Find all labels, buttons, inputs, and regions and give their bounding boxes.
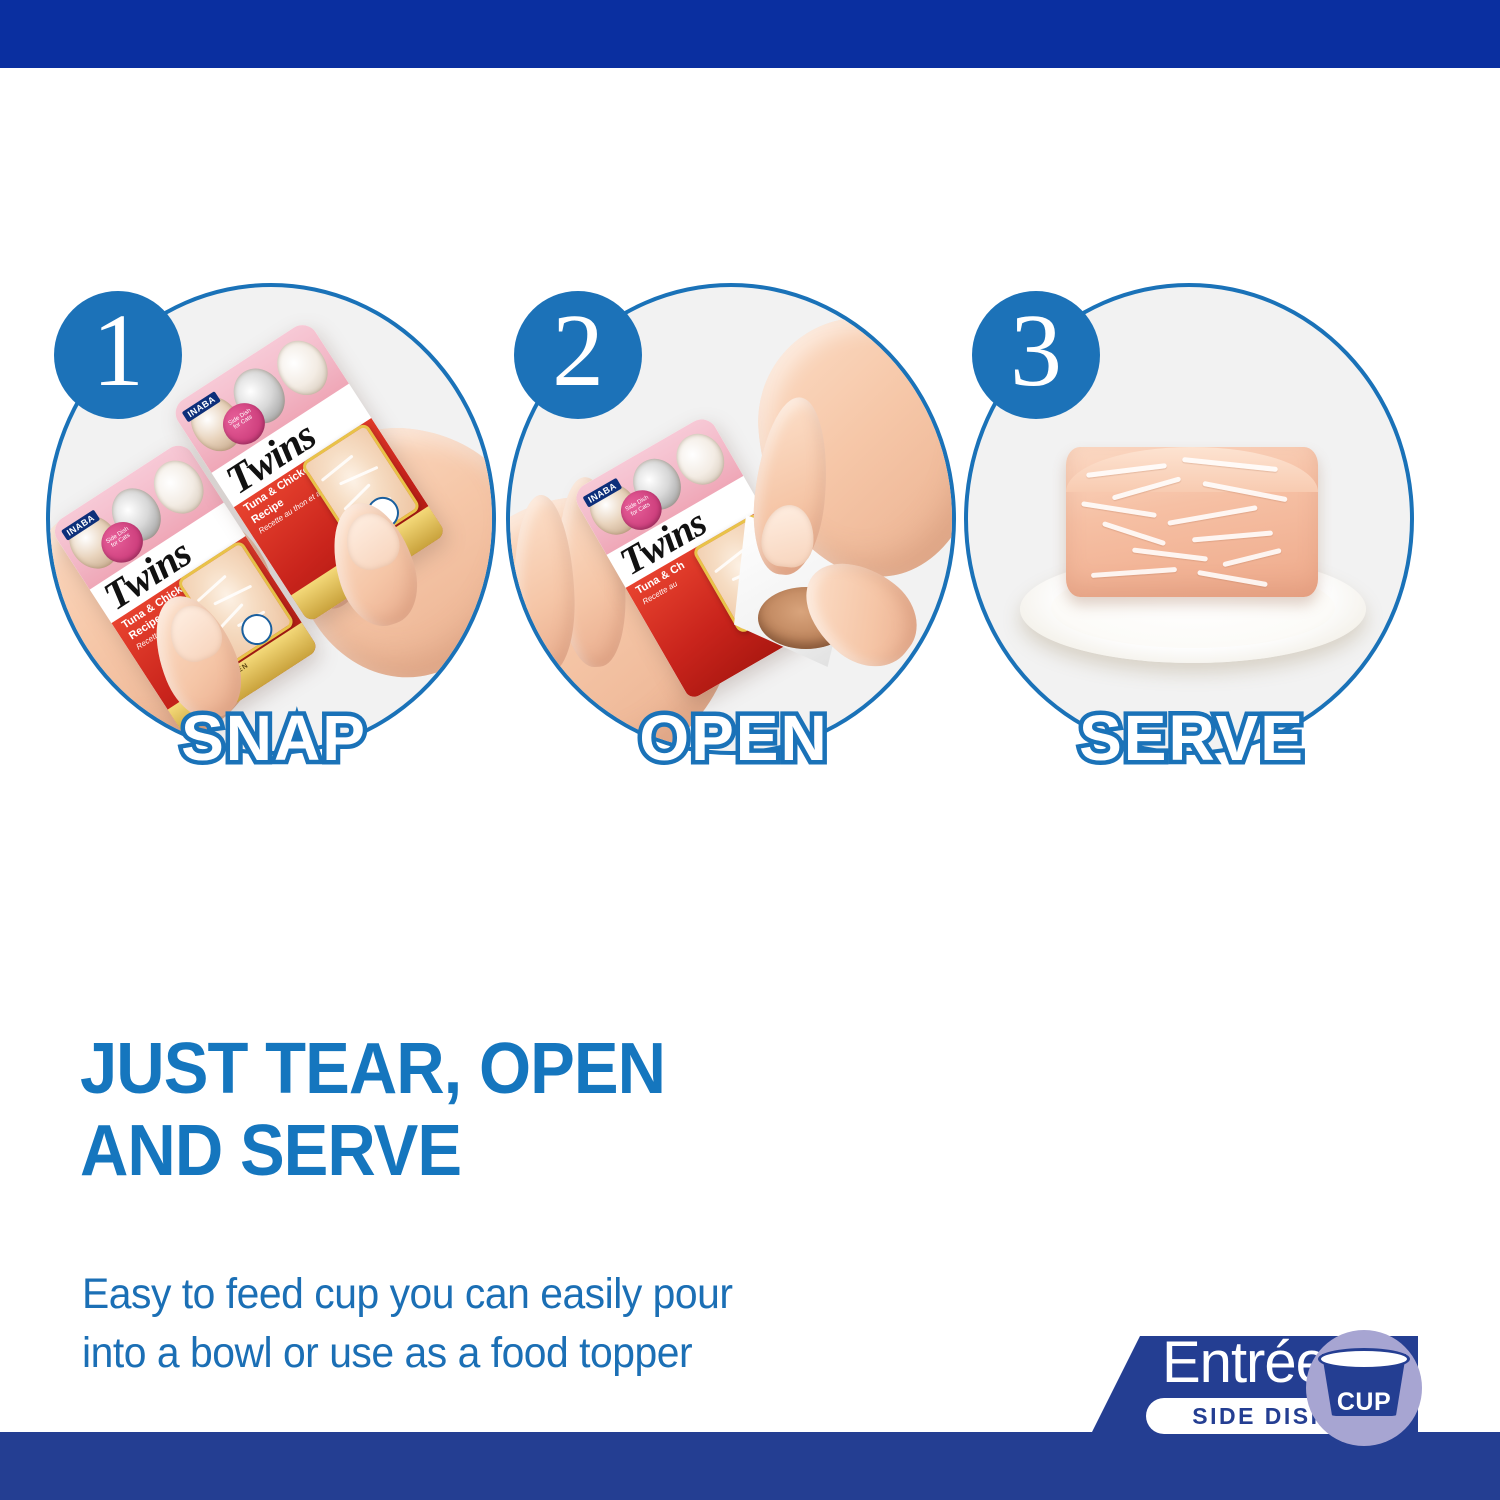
entree-side-dish-cup-badge: Entrée SIDE DISH CUP xyxy=(1088,1336,1500,1440)
step-number-2: 2 xyxy=(552,299,604,403)
cup-rim-icon xyxy=(1318,1348,1410,1370)
step-number-badge-1: 1 xyxy=(54,291,182,419)
step-caption-snap: SNAP xyxy=(46,701,502,775)
cup-badge-circle: CUP xyxy=(1306,1330,1422,1446)
bottom-brand-bar xyxy=(0,1432,1500,1500)
headline-line-2: AND SERVE xyxy=(80,1110,861,1192)
steps-row: INABA Side Dishfor Cats Twins Tuna & Chi… xyxy=(46,283,1422,823)
step-caption-open: OPEN xyxy=(506,701,962,775)
infographic-page: INABA Side Dishfor Cats Twins Tuna & Chi… xyxy=(0,0,1500,1500)
food-puck-top xyxy=(1066,447,1318,492)
entree-title: Entrée xyxy=(1162,1334,1327,1392)
cup-label: CUP xyxy=(1306,1388,1422,1417)
subcopy-line-2: into a bowl or use as a food topper xyxy=(82,1324,842,1383)
step-number-badge-3: 3 xyxy=(972,291,1100,419)
food-puck xyxy=(1066,447,1318,597)
step-number-badge-2: 2 xyxy=(514,291,642,419)
subcopy: Easy to feed cup you can easily pour int… xyxy=(82,1265,842,1384)
top-brand-bar xyxy=(0,0,1500,68)
step-number-1: 1 xyxy=(92,299,144,403)
step-3-serve: 3 SERVE xyxy=(964,283,1420,761)
step-1-snap: INABA Side Dishfor Cats Twins Tuna & Chi… xyxy=(46,283,502,761)
headline: JUST TEAR, OPEN AND SERVE xyxy=(80,1028,861,1192)
subcopy-line-1: Easy to feed cup you can easily pour xyxy=(82,1265,842,1324)
headline-line-1: JUST TEAR, OPEN xyxy=(80,1028,861,1110)
step-2-open: INABA Side Dishfor Cats Twins Tuna & Ch … xyxy=(506,283,962,761)
step-number-3: 3 xyxy=(1010,299,1062,403)
step-caption-serve: SERVE xyxy=(964,701,1420,775)
